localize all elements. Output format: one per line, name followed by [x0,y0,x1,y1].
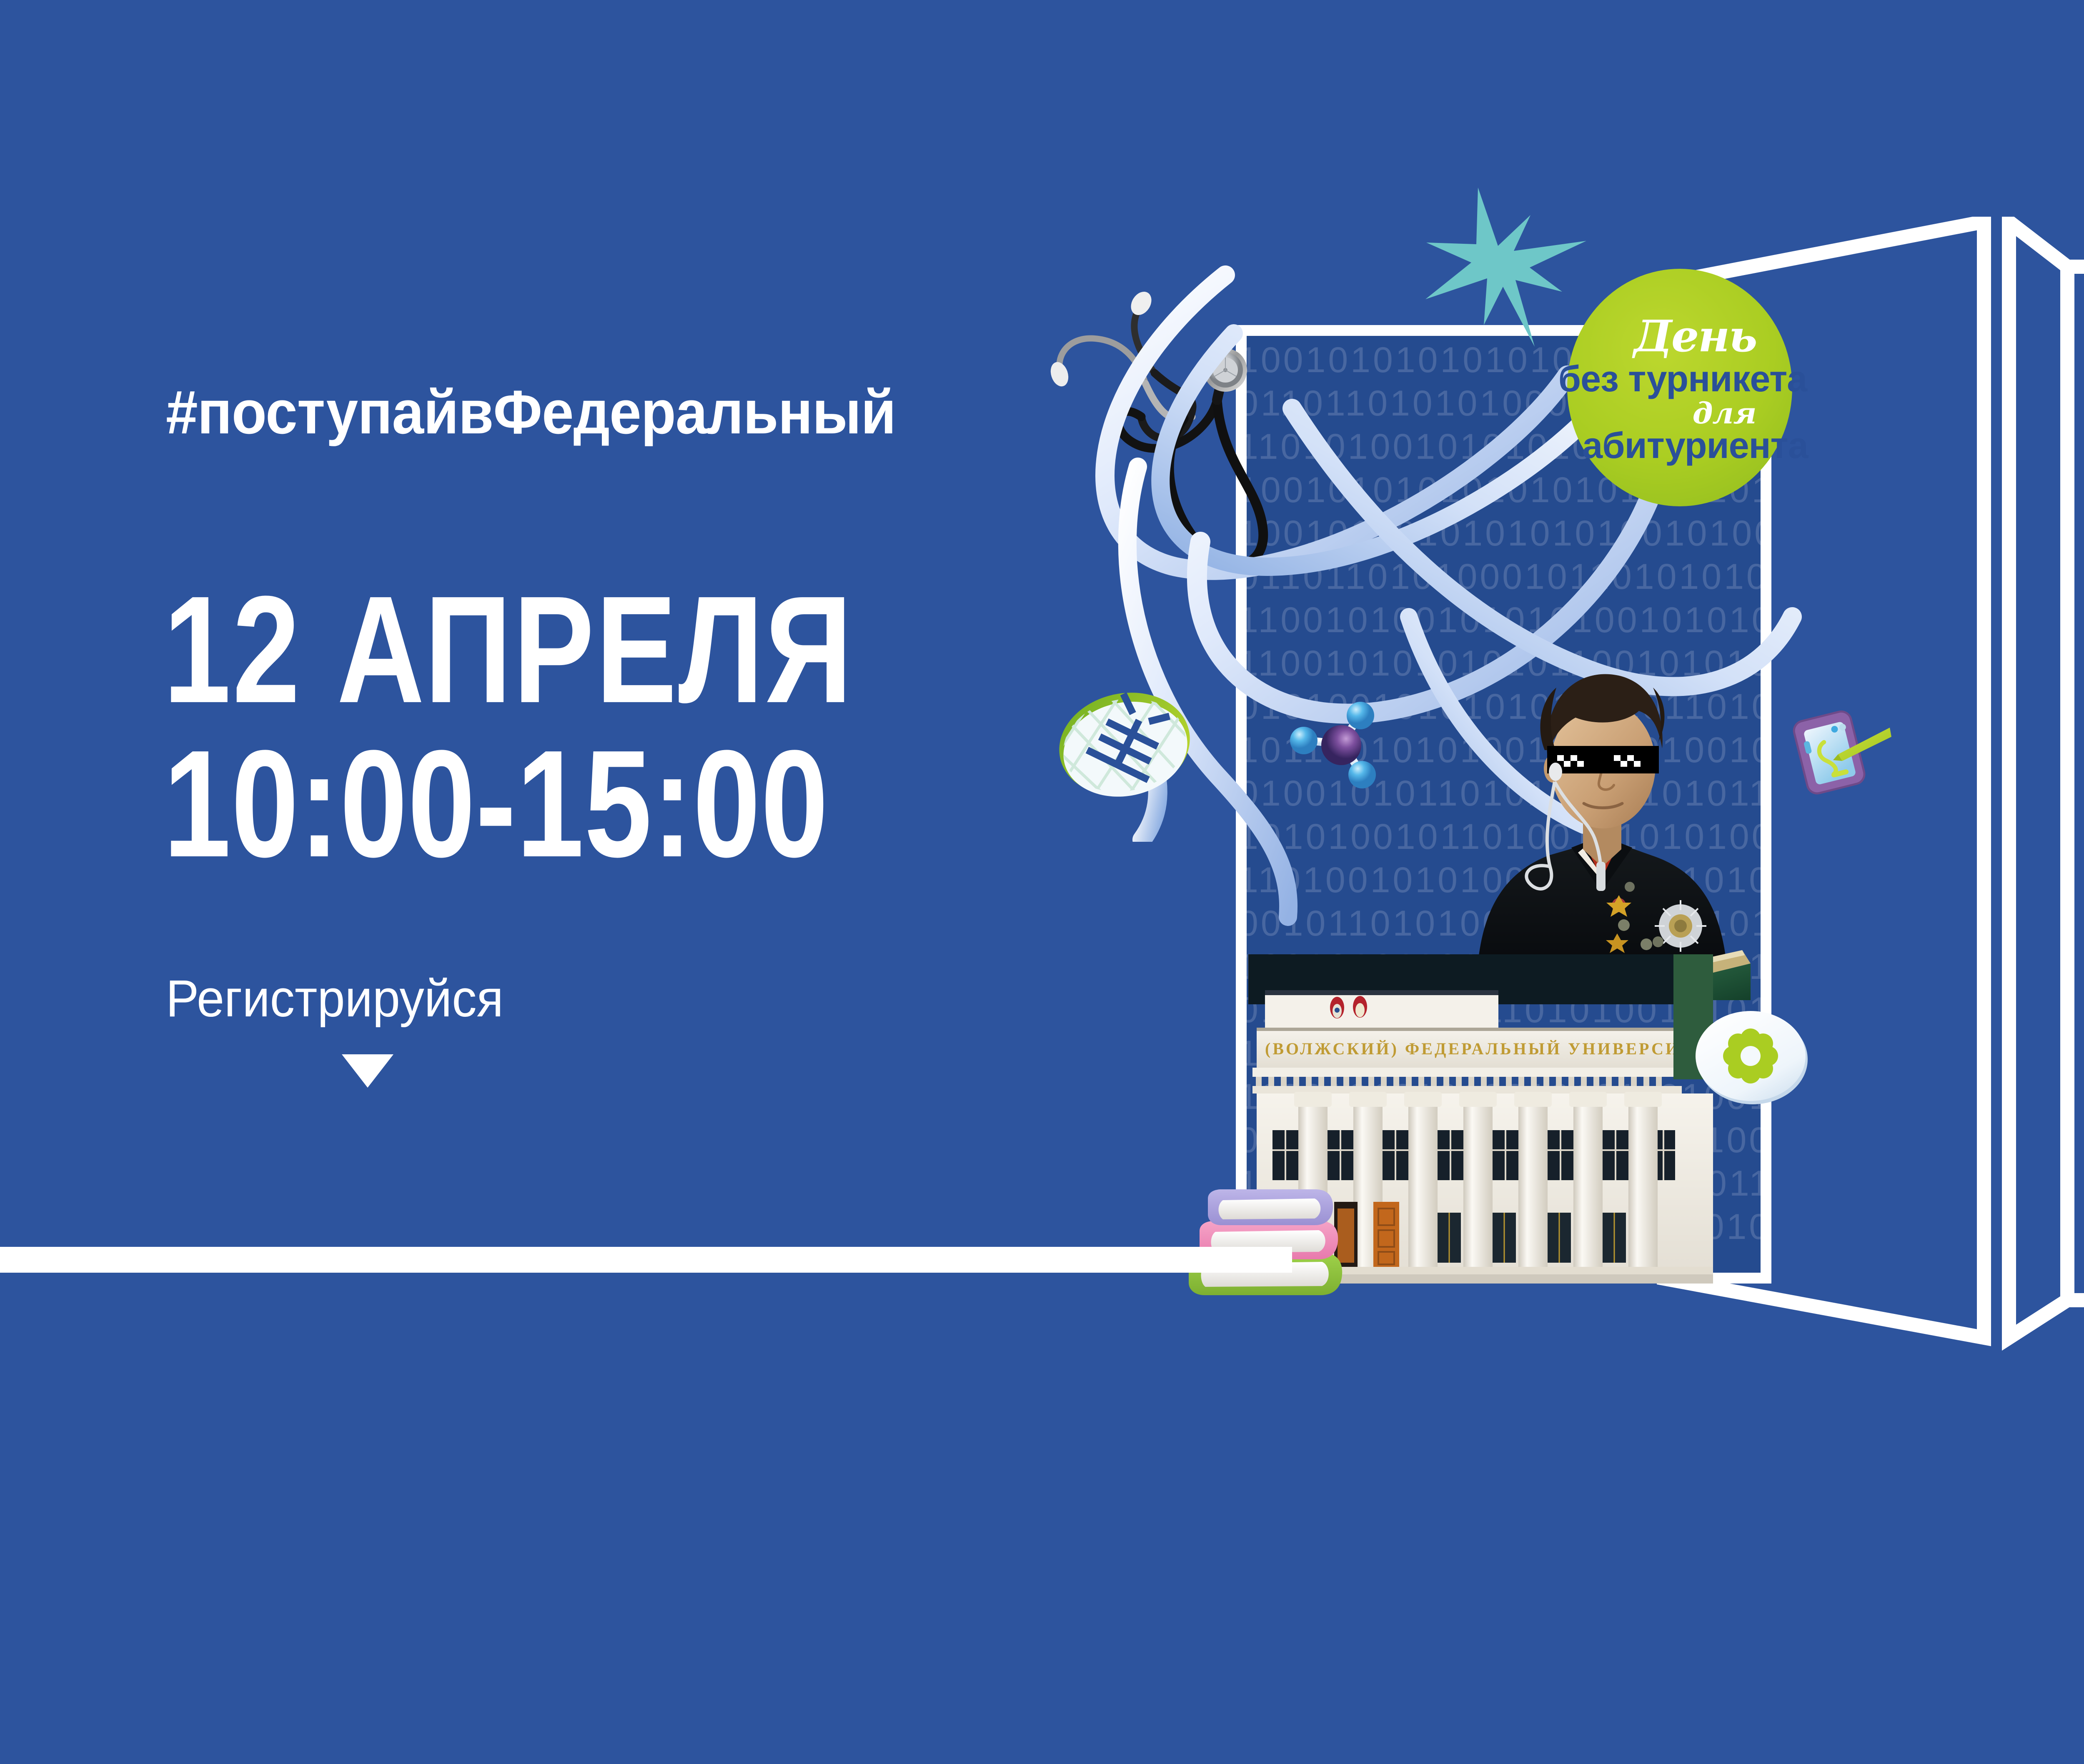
poster-canvas: 1001010101010101010010100101001101101010… [0,0,2084,1764]
register-cta-label[interactable]: Регистрируйся [166,969,503,1028]
badge-line-bez-turniketa: без турникета [1518,360,1847,398]
triangle-down-icon[interactable] [342,1054,393,1088]
event-date: 12 АПРЕЛЯ [163,573,854,726]
lobachevsky-portrait [1450,625,1751,1000]
flower-disc-icon [1690,1004,1811,1108]
event-badge[interactable]: День без турникета для абитуриента [1567,269,1792,506]
badge-line-den: День [1543,315,1847,358]
molecule-icon [1271,690,1400,802]
badge-line-dlya: для [1601,399,1847,428]
badge-line-abiturienta: абитуриента [1543,426,1847,465]
building-inscription: (ВОЛЖСКИЙ) ФЕДЕРАЛЬНЫЙ УНИВЕРСИТЕТ [1265,1039,1713,1058]
event-time: 10:00-15:00 [163,727,829,880]
badge-text-block: День без турникета для абитуриента [1518,315,1847,465]
badminton-racket-icon [1055,663,1221,842]
pixel-sunglasses-icon [1547,746,1659,773]
tablet-stylus-icon [1784,704,1892,800]
book-stack-icon [1175,1163,1363,1304]
baseline-divider [0,1247,1292,1273]
campaign-hashtag: #поступайвФедеральный [166,377,896,448]
